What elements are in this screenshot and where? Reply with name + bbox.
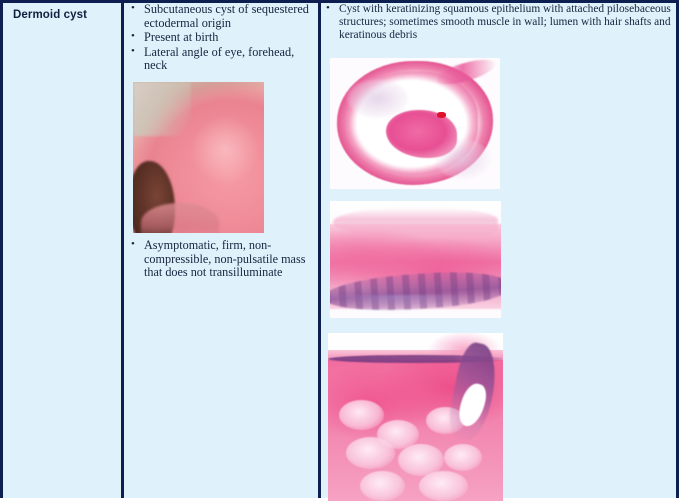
photo-background-drape [133,82,191,136]
dermoid-cyst-table: Dermoid cyst Subcutaneous cyst of seques… [0,0,679,498]
micrograph-sebaceous-lobule [346,437,395,469]
histology-pilosebaceous-structures [328,333,503,501]
list-item: Present at birth [124,31,318,45]
column-condition: Dermoid cyst [3,3,121,498]
histopathology-bullet-list: Cyst with keratinizing squamous epitheli… [321,3,676,42]
list-item: Cyst with keratinizing squamous epitheli… [321,3,676,42]
column-clinical-features: Subcutaneous cyst of sequestered ectoder… [121,3,318,498]
histology-low-power-cyst [330,58,500,189]
clinical-bullet-list: Subcutaneous cyst of sequestered ectoder… [124,3,318,73]
column-histopathology: Cyst with keratinizing squamous epitheli… [318,3,676,498]
photo-skin-fold [141,203,220,233]
micrograph-sebaceous-lobule [419,471,468,501]
micrograph-keratin-debris-upper [347,79,408,118]
clinical-photo-dermoid-cyst [133,82,264,233]
histology-epithelial-lining [330,201,501,318]
list-item: Subcutaneous cyst of sequestered ectoder… [124,3,318,30]
list-item: Asymptomatic, firm, non-compressible, no… [124,239,318,280]
clinical-bullet-list-secondary: Asymptomatic, firm, non-compressible, no… [124,239,318,280]
micrograph-loose-connective-tissue [330,295,501,318]
clinical-bullet-list-secondary-wrap: Asymptomatic, firm, non-compressible, no… [124,239,318,281]
micrograph-sebaceous-lobule [444,444,483,471]
list-item: Lateral angle of eye, forehead, neck [124,46,318,73]
photo-highlight [191,115,259,184]
condition-title: Dermoid cyst [3,3,121,21]
micrograph-sebaceous-lobule [360,471,406,501]
micrograph-hemorrhage-focus [437,112,446,118]
